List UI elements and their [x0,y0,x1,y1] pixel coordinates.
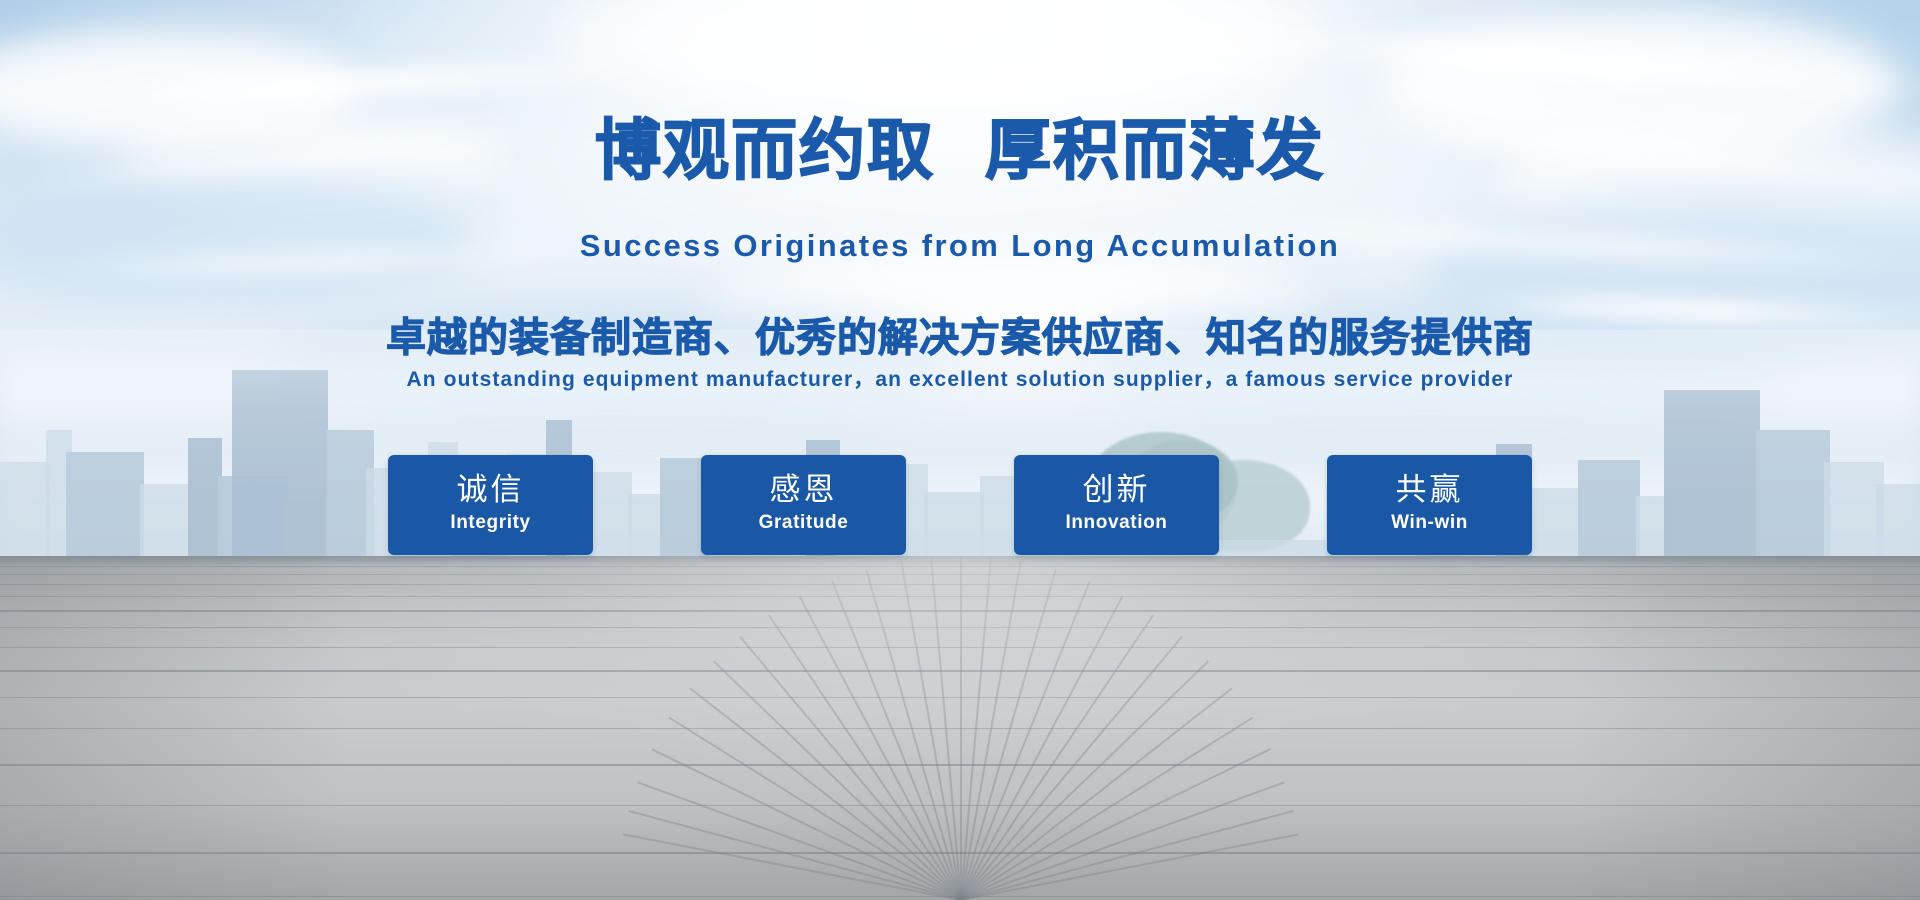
value-card-gratitude-en: Gratitude [759,511,849,536]
hero-banner: 博观而约取 厚积而薄发 Success Originates from Long… [0,0,1920,900]
value-card-integrity-cn: 诚信 [457,474,525,507]
value-card-integrity[interactable]: 诚信 Integrity [388,455,593,555]
value-card-innovation-en: Innovation [1065,511,1167,536]
subheadline-chinese: 卓越的装备制造商、优秀的解决方案供应商、知名的服务提供商 [0,305,1920,363]
value-card-gratitude[interactable]: 感恩 Gratitude [701,455,906,555]
value-card-winwin-cn: 共赢 [1396,474,1464,507]
value-card-gratitude-cn: 感恩 [770,474,838,507]
headline-chinese: 博观而约取 厚积而薄发 [0,118,1920,184]
headline-english: Success Originates from Long Accumulatio… [0,228,1920,264]
subheadline-english: An outstanding equipment manufacturer，an… [0,363,1920,393]
core-values-row: 诚信 Integrity 感恩 Gratitude 创新 Innovation … [0,455,1920,555]
banner-content: 博观而约取 厚积而薄发 Success Originates from Long… [0,0,1920,900]
value-card-winwin[interactable]: 共赢 Win-win [1327,455,1532,555]
value-card-winwin-en: Win-win [1391,511,1468,536]
value-card-innovation[interactable]: 创新 Innovation [1014,455,1219,555]
value-card-integrity-en: Integrity [450,511,530,536]
value-card-innovation-cn: 创新 [1083,474,1151,507]
